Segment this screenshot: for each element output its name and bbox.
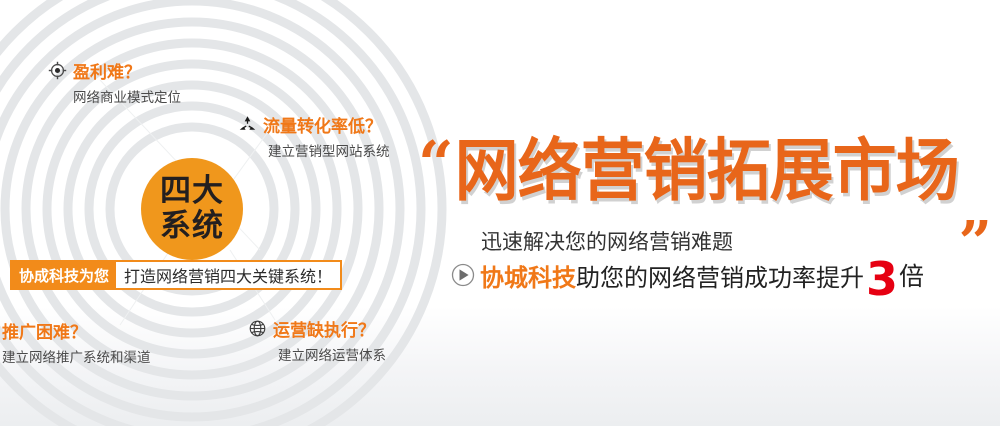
feature-promotion-title: 推广困难？	[2, 318, 87, 343]
feature-profit-title: 盈利难？	[73, 58, 141, 83]
feature-profit-subtitle: 网络商业模式定位	[73, 86, 181, 106]
feature-operation-title: 运营缺执行？	[273, 316, 375, 341]
quote-close-mark: „	[960, 185, 993, 234]
hero-multiplier-unit: 倍	[899, 257, 924, 293]
feature-profit: 盈利难？ 网络商业模式定位	[48, 58, 181, 106]
crosshair-target-icon	[48, 61, 67, 80]
hero-headline-row: “ 网络营销拓展市场 „	[418, 136, 998, 222]
feature-operation-subtitle: 建立网络运营体系	[278, 344, 386, 364]
feature-conversion-head: 流量转化率低？	[238, 112, 390, 137]
marketing-banner: 四大 系统 盈利难？ 网络商业模式定位	[0, 0, 1000, 426]
core-label-line2: 系统	[160, 211, 224, 242]
hero-subtitle-1: 迅速解决您的网络营销难题	[481, 226, 998, 256]
feature-promotion-subtitle: 建立网络推广系统和渠道	[2, 346, 151, 366]
feature-conversion-title: 流量转化率低？	[263, 112, 382, 137]
recycle-arrows-icon	[238, 115, 257, 134]
claim-bar: 协成科技为您 打造网络营销四大关键系统！	[10, 260, 342, 290]
hero-brand: 协城科技	[480, 258, 576, 293]
hero-headline: 网络营销拓展市场	[455, 138, 959, 206]
core-circle: 四大 系统	[141, 158, 243, 260]
feature-profit-head: 盈利难？	[48, 58, 181, 83]
hero-subtitle-2: 协城科技 助您的网络营销成功率提升 3 倍	[451, 257, 998, 294]
feature-promotion: 推广困难？ 建立网络推广系统和渠道	[2, 318, 151, 366]
feature-promotion-head: 推广困难？	[2, 318, 151, 343]
feature-conversion-subtitle: 建立营销型网站系统	[268, 140, 390, 160]
play-circle-icon	[451, 263, 475, 287]
feature-operation: 运营缺执行？ 建立网络运营体系	[248, 316, 386, 364]
claim-text: 打造网络营销四大关键系统！	[116, 262, 340, 288]
feature-operation-head: 运营缺执行？	[248, 316, 386, 341]
claim-badge: 协成科技为您	[12, 262, 116, 288]
quote-open-mark: “	[418, 138, 454, 191]
hero-sub2-text: 助您的网络营销成功率提升	[576, 258, 864, 293]
globe-icon	[248, 319, 267, 338]
feature-conversion: 流量转化率低？ 建立营销型网站系统	[238, 112, 390, 160]
core-label-line1: 四大	[160, 176, 224, 207]
hero-multiplier-number: 3	[866, 261, 898, 298]
hero-block: “ 网络营销拓展市场 „ 迅速解决您的网络营销难题 协城科技 助您的网络营销成功…	[418, 136, 998, 294]
